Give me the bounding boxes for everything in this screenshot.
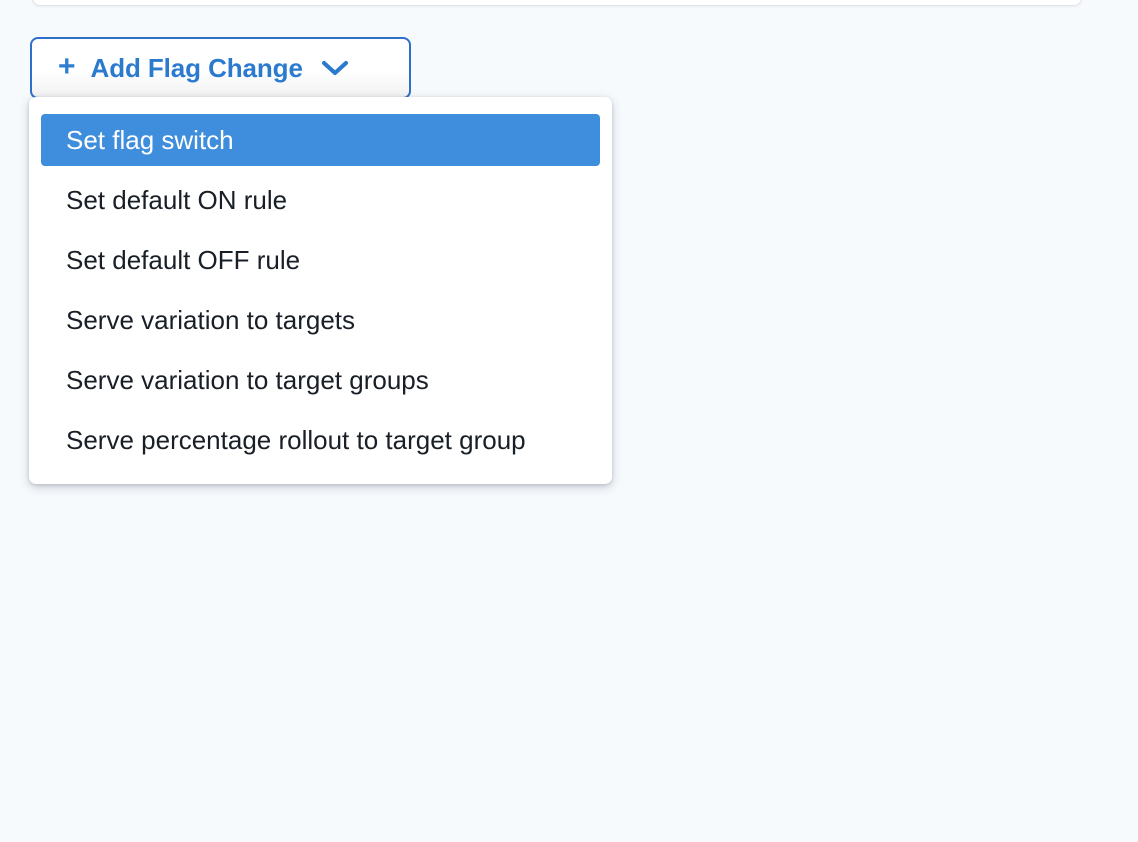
menu-item-set-default-on-rule[interactable]: Set default ON rule [41, 174, 600, 226]
menu-item-serve-percentage-rollout-to-target-group[interactable]: Serve percentage rollout to target group [41, 414, 600, 466]
flag-change-menu[interactable]: Set flag switch Set default ON rule Set … [29, 97, 612, 484]
menu-item-serve-variation-to-targets[interactable]: Serve variation to targets [41, 294, 600, 346]
menu-item-set-default-off-rule[interactable]: Set default OFF rule [41, 234, 600, 286]
panel-above [32, 0, 1082, 6]
add-flag-change-label: Add Flag Change [91, 53, 303, 84]
add-flag-change-button[interactable]: + Add Flag Change [30, 37, 411, 99]
plus-icon: + [58, 52, 76, 82]
chevron-down-icon[interactable] [321, 59, 349, 77]
page-canvas: + Add Flag Change Set flag switch Set de… [0, 0, 1138, 842]
menu-item-set-flag-switch[interactable]: Set flag switch [41, 114, 600, 166]
menu-item-serve-variation-to-target-groups[interactable]: Serve variation to target groups [41, 354, 600, 406]
